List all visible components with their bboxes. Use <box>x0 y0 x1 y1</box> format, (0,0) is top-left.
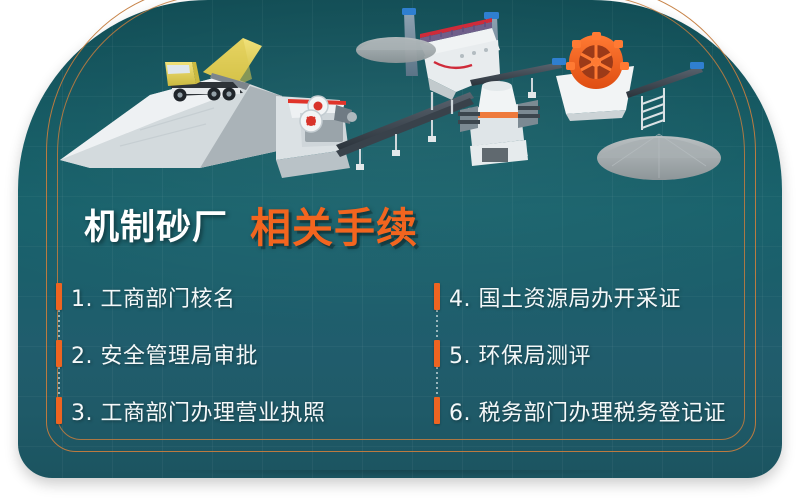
procedure-column-right: 4. 国土资源局办开采证 5. 环保局测评 6. 税务部门办理税务登记证 <box>434 268 794 438</box>
title-accent: 相关手续 <box>250 194 418 254</box>
title-primary: 机制砂厂 <box>84 199 228 250</box>
list-item-label: 5. 环保局测评 <box>449 338 591 370</box>
gravel-stockpile-right <box>597 134 721 180</box>
bullet-bar-icon <box>434 397 440 424</box>
list-item: 6. 税务部门办理税务登记证 <box>434 382 794 439</box>
production-line-illustration <box>0 0 800 200</box>
list-item: 5. 环保局测评 <box>434 325 794 382</box>
bullet-bar-icon <box>434 340 440 367</box>
bullet-bar-icon <box>56 283 62 310</box>
list-item-label: 2. 安全管理局审批 <box>71 338 258 370</box>
wheel-sand-washer <box>556 32 634 121</box>
bullet-bar-icon <box>56 397 62 424</box>
procedure-list: 1. 工商部门核名 2. 安全管理局审批 3. 工商部门办理营业执照 4. 国土… <box>0 268 800 438</box>
bullet-bar-icon <box>434 283 440 310</box>
list-item-label: 4. 国土资源局办开采证 <box>449 281 681 313</box>
list-item: 1. 工商部门核名 <box>56 268 416 325</box>
list-item-label: 6. 税务部门办理税务登记证 <box>449 395 726 427</box>
list-item-label: 3. 工商部门办理营业执照 <box>71 395 325 427</box>
feed-ramp <box>60 75 282 168</box>
banner-title: 机制砂厂 相关手续 <box>0 196 800 252</box>
list-item-label: 1. 工商部门核名 <box>71 281 235 313</box>
gravel-stockpile-left <box>356 37 436 63</box>
list-item: 2. 安全管理局审批 <box>56 325 416 382</box>
bullet-bar-icon <box>56 340 62 367</box>
list-item: 4. 国土资源局办开采证 <box>434 268 794 325</box>
procedure-column-left: 1. 工商部门核名 2. 安全管理局审批 3. 工商部门办理营业执照 <box>56 268 416 438</box>
jaw-crusher <box>276 96 357 178</box>
belt-conveyor-right <box>626 62 704 130</box>
belt-conveyor-main <box>336 92 474 170</box>
list-item: 3. 工商部门办理营业执照 <box>56 382 416 439</box>
banner-image: 机制砂厂 相关手续 1. 工商部门核名 2. 安全管理局审批 3. 工商部门办理… <box>0 0 800 500</box>
